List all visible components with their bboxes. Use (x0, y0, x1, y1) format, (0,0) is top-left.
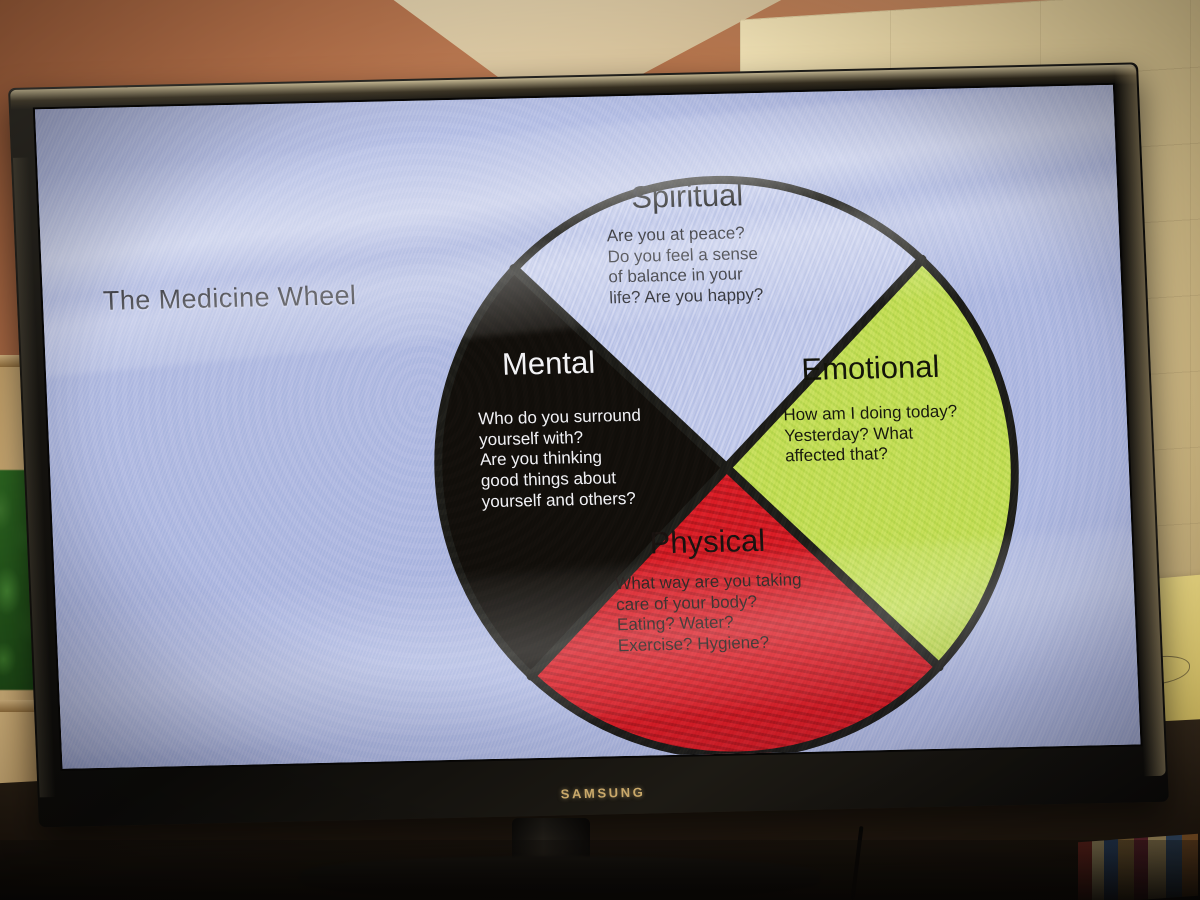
medicine-wheel-diagram: Spiritual Are you at peace? Do you feel … (418, 165, 1035, 769)
page-title: The Medicine Wheel (102, 280, 357, 317)
quadrant-text-physical: What way are you taking care of your bod… (615, 568, 878, 657)
books-row (1078, 834, 1198, 900)
quadrant-text-mental: Who do you surround yourself with? Are y… (478, 404, 712, 513)
samsung-television: SAMSUNG The Medicine Wheel (8, 62, 1169, 827)
quadrant-text-emotional: How am I doing today? Yesterday? What af… (783, 400, 1026, 468)
quadrant-label-mental: Mental (501, 345, 596, 383)
tv-stand-base (300, 856, 820, 900)
tv-screen[interactable]: The Medicine Wheel (35, 85, 1141, 769)
quadrant-label-spiritual: Spiritual (630, 177, 743, 216)
photograph-scene: ll-bil shhh SAMSUNG The Medicine Wheel (0, 0, 1200, 900)
quadrant-text-spiritual: Are you at peace? Do you feel a sense of… (606, 221, 859, 310)
quadrant-label-physical: Physical (649, 523, 766, 562)
quadrant-label-emotional: Emotional (801, 349, 940, 388)
